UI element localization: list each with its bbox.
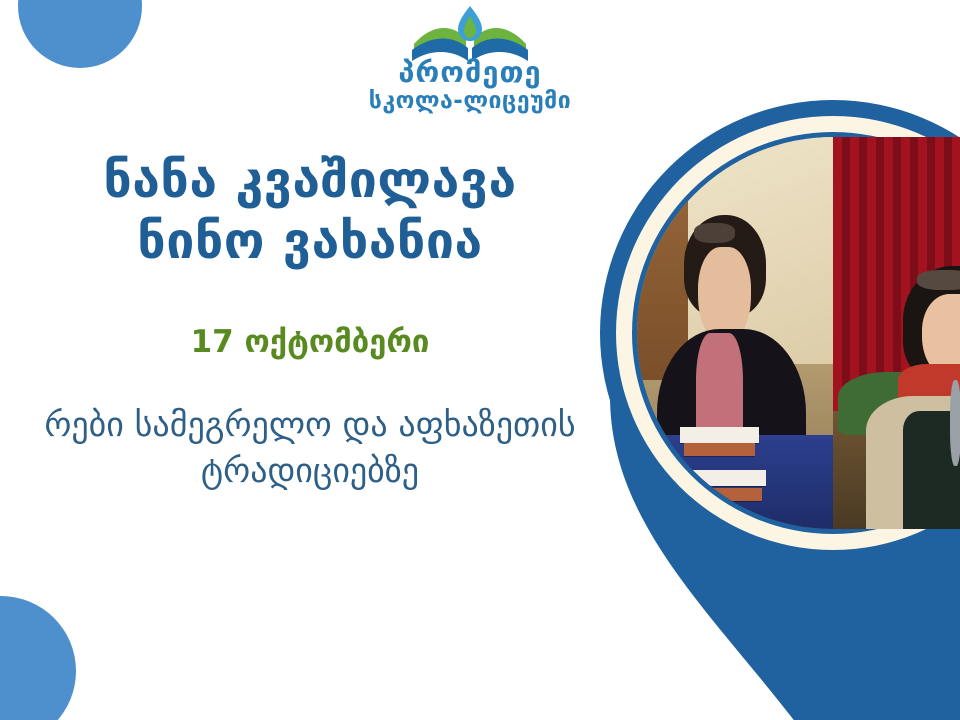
logo-word-main: პრომეთე: [336, 58, 604, 87]
open-book-with-flame-icon: [410, 4, 530, 62]
photo-speaker-nino-vakhania: [833, 137, 960, 529]
decorative-circle-bottom-left: [0, 596, 76, 720]
decorative-circle-top-left: [18, 0, 142, 68]
photo-speaker-nana-kvashilava: [637, 137, 833, 529]
presentation-slide: პრომეთე სკოლა-ლიცეუმი ნანა კვაშილავა ნინ…: [0, 0, 960, 720]
event-topic: რები სამეგრელო და აფხაზეთის ტრადიციებზე: [0, 403, 660, 495]
text-block: ნანა კვაშილავა ნინო ვახანია 17 ოქტომბერი…: [0, 150, 660, 495]
speaker-name-line-1: ნანა კვაშილავა: [0, 150, 660, 211]
logo-word-sub: სკოლა-ლიცეუმი: [336, 89, 604, 113]
speaker-name-line-2: ნინო ვახანია: [0, 211, 660, 272]
event-date: 17 ოქტომბერი: [0, 324, 660, 361]
school-logo: პრომეთე სკოლა-ლიცეუმი: [336, 4, 604, 116]
